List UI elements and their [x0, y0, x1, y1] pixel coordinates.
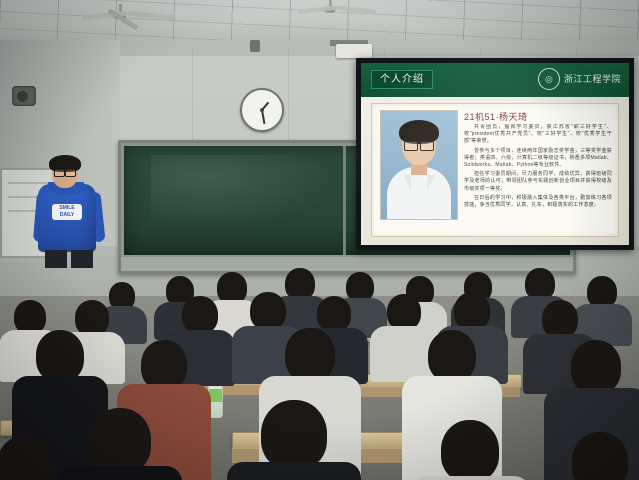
- student-head: [75, 300, 109, 336]
- student-head: [141, 340, 187, 390]
- student-head: [571, 340, 621, 394]
- projection-screen: 个人介绍 ◎ 浙江工程学院 21机51·杨天琦: [356, 58, 634, 250]
- blackboard-glare: [151, 155, 338, 231]
- student-body: [410, 476, 530, 480]
- hoodie-text: SMILEDAILY: [52, 204, 82, 220]
- slide-paragraph: 担任学习委员期间，尽力服务同学，成绩优异，获得班级同学及老师的认可，带领团队参与…: [464, 171, 612, 193]
- student-head: [572, 432, 628, 480]
- school-emblem-icon: ◎: [538, 68, 560, 90]
- student-head: [182, 296, 218, 334]
- student-head: [261, 400, 327, 470]
- student-head: [14, 300, 46, 334]
- slide-student-name: 21机51·杨天琦: [464, 110, 528, 123]
- slide-paragraphs: 共青团员，擅佩学习委员，获江苏省"职三好学生"、校"president优秀共产党…: [464, 124, 612, 230]
- wall-camera-icon: [250, 40, 260, 52]
- student-head: [36, 330, 84, 382]
- wall-clock: [240, 88, 284, 132]
- glasses-icon: [404, 141, 434, 149]
- teacher-leg-left: [45, 250, 67, 268]
- slide-paragraph: 曾参与多个项目，连续两年国家励志奖学金，三等奖学金获得者；英语四、六级，计算机二…: [464, 148, 612, 170]
- teacher-leg-right: [71, 250, 93, 268]
- student-id-photo: [380, 110, 458, 220]
- student-head: [454, 292, 490, 330]
- projector: [336, 44, 372, 58]
- student-head: [317, 296, 351, 332]
- photo-collar-left: [403, 175, 411, 191]
- student-body: [58, 466, 182, 480]
- chalk-tray: [121, 256, 573, 271]
- teacher: SMILEDAILY: [38, 158, 100, 268]
- student-head: [542, 300, 578, 338]
- student-head: [387, 294, 421, 330]
- student-head: [441, 420, 499, 480]
- slide-body: 21机51·杨天琦 共青团员，擅佩学习委员，获江苏省"职三好学生"、校"pres…: [371, 103, 619, 237]
- photo-collar-right: [427, 175, 435, 191]
- school-logo: ◎ 浙江工程学院: [538, 68, 621, 90]
- wall-speaker-icon: [12, 86, 36, 106]
- student-head: [428, 330, 476, 382]
- slide-paragraph: 共青团员，擅佩学习委员，获江苏省"职三好学生"、校"president优秀共产党…: [464, 124, 612, 146]
- blackboard-divider: [343, 146, 346, 255]
- student-head: [285, 328, 335, 382]
- student-body: [227, 462, 361, 480]
- slide: 个人介绍 ◎ 浙江工程学院 21机51·杨天琦: [361, 63, 629, 245]
- slide-paragraph: 在日后的学习中，积极融入集体及各类平台，勤加练习各项技能，争当优秀同学，认真、扎…: [464, 195, 612, 209]
- student-head: [89, 408, 151, 474]
- school-name: 浙江工程学院: [564, 74, 621, 85]
- slide-title: 个人介绍: [371, 70, 433, 89]
- classroom-photo: 个人介绍 ◎ 浙江工程学院 21机51·杨天琦: [0, 0, 639, 480]
- clock-center: [260, 108, 264, 112]
- student-head: [250, 292, 286, 330]
- glasses-icon: [54, 169, 76, 175]
